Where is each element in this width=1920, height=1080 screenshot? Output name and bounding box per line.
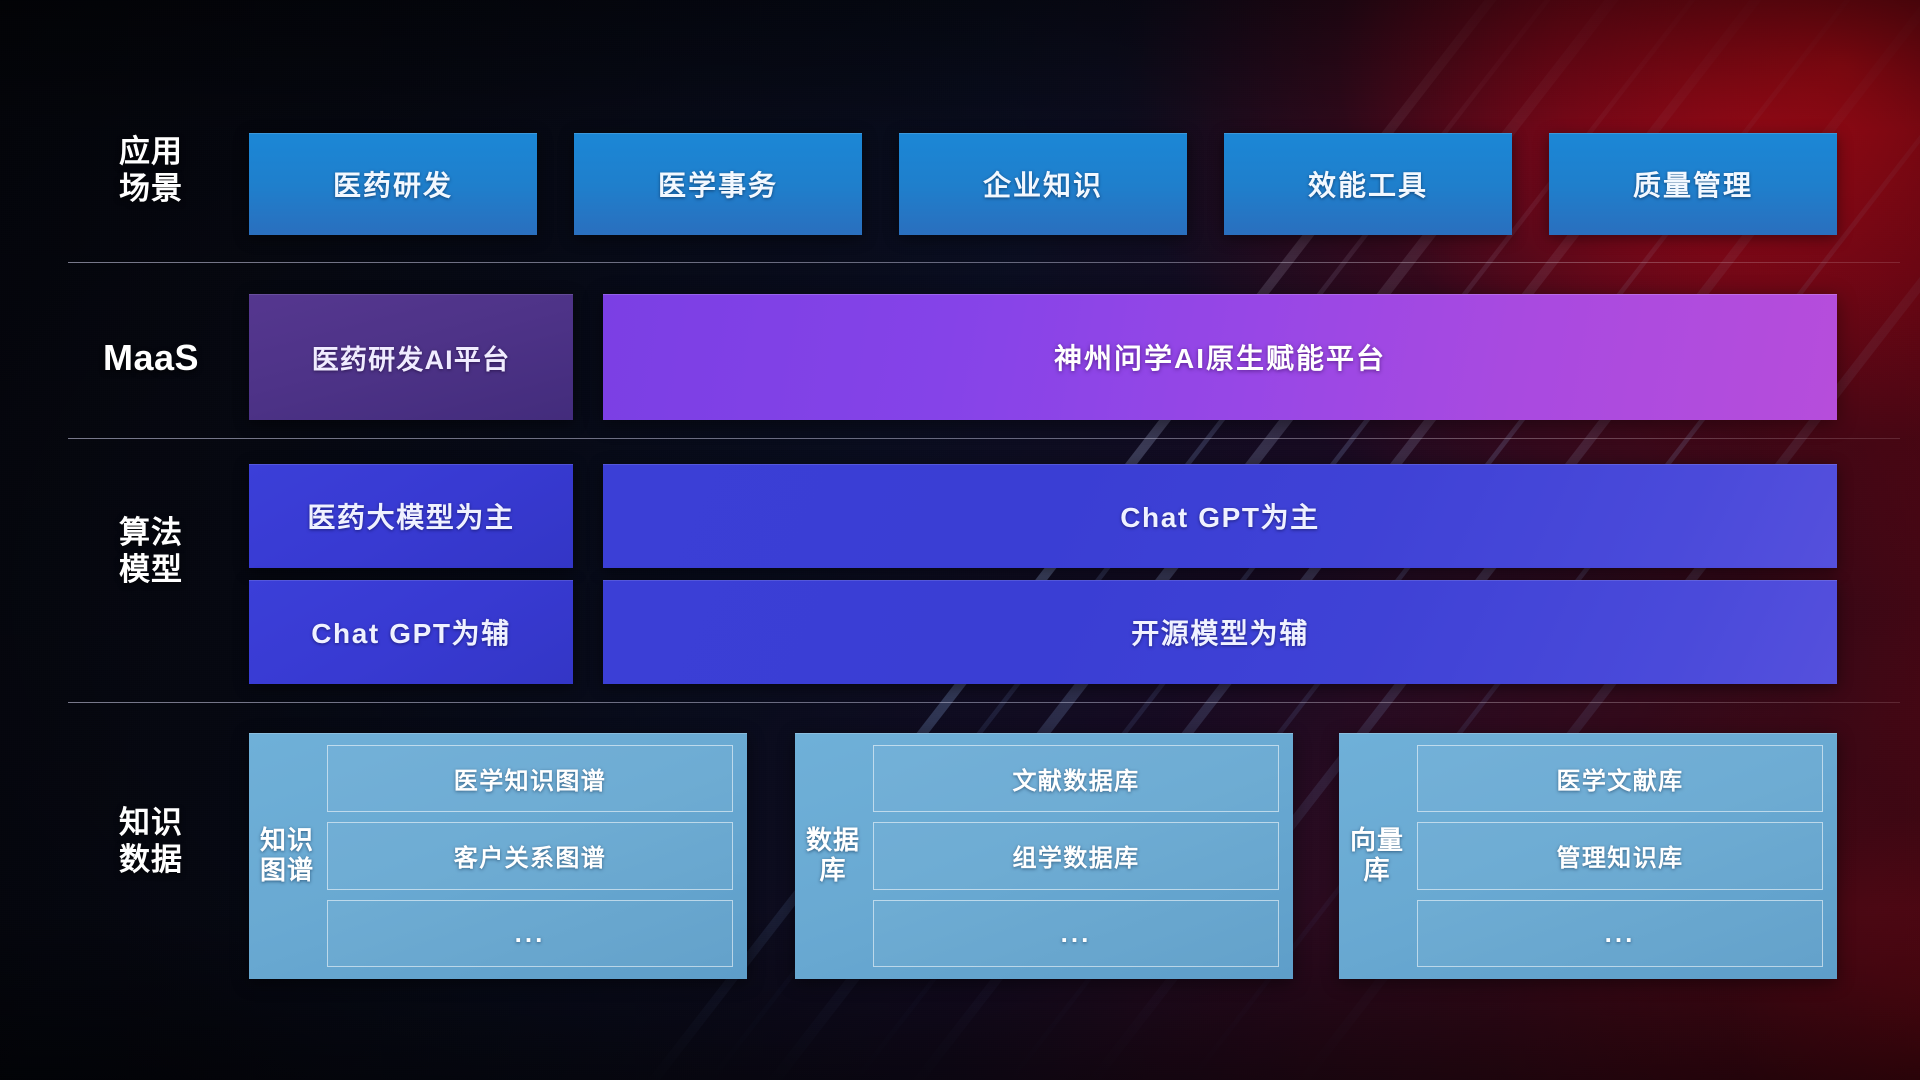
knowledge-item-medical-kg-label: 医学知识图谱: [454, 761, 606, 796]
row-label-application-line1: 应用: [76, 134, 226, 171]
knowledge-panel-graph-vertical-label: 知识图谱: [259, 745, 315, 967]
algorithm-box-chatgpt-secondary-label: Chat GPT为辅: [311, 612, 511, 652]
divider-maas-algorithm: [68, 438, 1900, 439]
row-label-application-line2: 场景: [76, 171, 226, 208]
knowledge-item-management-knowledge-label: 管理知识库: [1557, 838, 1684, 873]
knowledge-panel-vector-items: 医学文献库 管理知识库 ...: [1405, 745, 1823, 967]
knowledge-item-omics-db-label: 组学数据库: [1013, 838, 1140, 873]
scenario-box-3[interactable]: 企业知识: [899, 133, 1187, 235]
architecture-diagram: 应用 场景 医药研发 医学事务 企业知识 效能工具 质量管理 MaaS 医药研发…: [0, 0, 1920, 1080]
algorithm-box-opensource-secondary[interactable]: 开源模型为辅: [603, 580, 1837, 684]
scenario-box-3-label: 企业知识: [983, 164, 1103, 204]
scenario-box-2[interactable]: 医学事务: [574, 133, 862, 235]
maas-platform-box-shenzhou[interactable]: 神州问学AI原生赋能平台: [603, 294, 1837, 420]
knowledge-item-medical-kg[interactable]: 医学知识图谱: [327, 745, 733, 812]
maas-platform-box-pharma-label: 医药研发AI平台: [312, 338, 511, 377]
row-label-maas-text: MaaS: [76, 337, 226, 379]
knowledge-item-vector-more-label: ...: [1605, 918, 1636, 949]
knowledge-panel-database[interactable]: 数据库 文献数据库 组学数据库 ...: [795, 733, 1293, 979]
knowledge-item-literature-db-label: 文献数据库: [1013, 761, 1140, 796]
knowledge-panel-database-items: 文献数据库 组学数据库 ...: [861, 745, 1279, 967]
knowledge-panel-vector-vertical-label: 向量库: [1349, 745, 1405, 967]
knowledge-item-medical-literature-label: 医学文献库: [1557, 761, 1684, 796]
divider-application-maas: [68, 262, 1900, 263]
row-label-algorithm-line1: 算法: [76, 515, 226, 552]
maas-platform-box-pharma[interactable]: 医药研发AI平台: [249, 294, 573, 420]
knowledge-item-management-knowledge[interactable]: 管理知识库: [1417, 822, 1823, 889]
scenario-box-4-label: 效能工具: [1308, 164, 1428, 204]
algorithm-box-chatgpt-primary[interactable]: Chat GPT为主: [603, 464, 1837, 568]
knowledge-item-customer-kg[interactable]: 客户关系图谱: [327, 822, 733, 889]
algorithm-box-pharma-primary[interactable]: 医药大模型为主: [249, 464, 573, 568]
knowledge-item-literature-db[interactable]: 文献数据库: [873, 745, 1279, 812]
knowledge-panel-database-vertical-label: 数据库: [805, 745, 861, 967]
scenario-box-5-label: 质量管理: [1633, 164, 1753, 204]
scenario-box-1-label: 医药研发: [333, 164, 453, 204]
knowledge-panel-graph[interactable]: 知识图谱 医学知识图谱 客户关系图谱 ...: [249, 733, 747, 979]
scenario-box-4[interactable]: 效能工具: [1224, 133, 1512, 235]
row-label-algorithm-line2: 模型: [76, 552, 226, 589]
scenario-box-2-label: 医学事务: [658, 164, 778, 204]
scenario-box-5[interactable]: 质量管理: [1549, 133, 1837, 235]
knowledge-item-customer-kg-label: 客户关系图谱: [454, 838, 606, 873]
slide-canvas: 应用 场景 医药研发 医学事务 企业知识 效能工具 质量管理 MaaS 医药研发…: [0, 0, 1920, 1080]
knowledge-panel-graph-items: 医学知识图谱 客户关系图谱 ...: [315, 745, 733, 967]
knowledge-panel-vector[interactable]: 向量库 医学文献库 管理知识库 ...: [1339, 733, 1837, 979]
algorithm-box-chatgpt-secondary[interactable]: Chat GPT为辅: [249, 580, 573, 684]
row-label-knowledge-line1: 知识: [76, 805, 226, 842]
row-label-maas: MaaS: [76, 337, 226, 379]
knowledge-item-graph-more-label: ...: [515, 918, 546, 949]
divider-algorithm-knowledge: [68, 702, 1900, 703]
algorithm-box-opensource-secondary-label: 开源模型为辅: [1131, 612, 1309, 652]
algorithm-box-pharma-primary-label: 医药大模型为主: [307, 496, 514, 536]
row-label-application: 应用 场景: [76, 134, 226, 207]
knowledge-item-vector-more[interactable]: ...: [1417, 900, 1823, 967]
row-label-knowledge: 知识 数据: [76, 805, 226, 878]
scenario-box-1[interactable]: 医药研发: [249, 133, 537, 235]
row-label-algorithm: 算法 模型: [76, 515, 226, 588]
knowledge-item-database-more[interactable]: ...: [873, 900, 1279, 967]
maas-platform-box-shenzhou-label: 神州问学AI原生赋能平台: [1054, 337, 1386, 377]
algorithm-box-chatgpt-primary-label: Chat GPT为主: [1120, 496, 1320, 536]
row-label-knowledge-line2: 数据: [76, 842, 226, 879]
knowledge-item-medical-literature[interactable]: 医学文献库: [1417, 745, 1823, 812]
knowledge-item-omics-db[interactable]: 组学数据库: [873, 822, 1279, 889]
knowledge-item-database-more-label: ...: [1061, 918, 1092, 949]
knowledge-item-graph-more[interactable]: ...: [327, 900, 733, 967]
